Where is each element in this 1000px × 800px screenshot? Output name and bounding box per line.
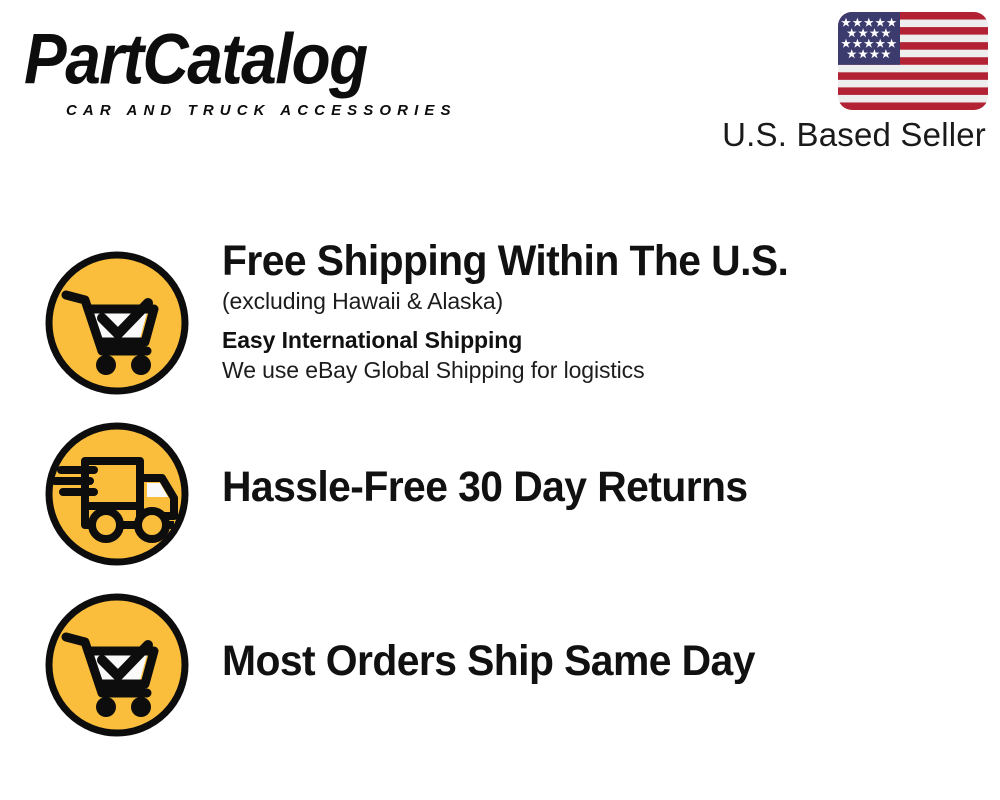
feature-title: Most Orders Ship Same Day [222,636,925,686]
us-based-seller-label: U.S. Based Seller [722,117,986,153]
brand-tagline: CAR AND TRUCK ACCESSORIES [24,102,494,119]
feature-note: (excluding Hawaii & Alaska) [222,286,962,316]
feature-detail: We use eBay Global Shipping for logistic… [222,355,962,385]
feature-subheading: Easy International Shipping [222,325,962,355]
shopping-cart-check-icon [44,592,190,738]
delivery-truck-icon [44,421,190,567]
brand-wordmark: PartCatalog [24,22,494,96]
promo-banner: PartCatalog CAR AND TRUCK ACCESSORIES [0,0,1000,800]
brand-logo[interactable]: PartCatalog CAR AND TRUCK ACCESSORIES [24,22,494,119]
us-flag-icon [838,12,988,110]
feature-title: Free Shipping Within The U.S. [222,236,925,286]
feature-title: Hassle-Free 30 Day Returns [222,462,925,512]
shopping-cart-check-icon [44,250,190,396]
